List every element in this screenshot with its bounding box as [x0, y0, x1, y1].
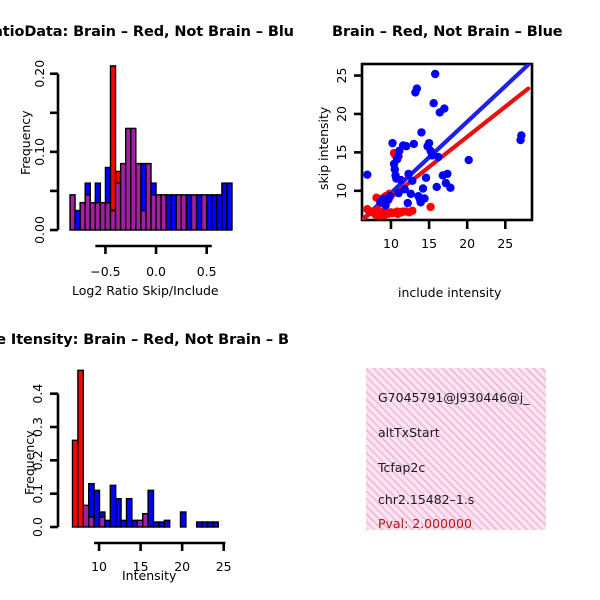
svg-text:20: 20 — [334, 106, 349, 122]
svg-text:15: 15 — [421, 236, 437, 251]
gene-info-box: G7045791@J930446@j_ altTxStart Tcfap2c c… — [366, 368, 546, 530]
svg-text:20: 20 — [174, 559, 190, 574]
svg-text:15: 15 — [133, 559, 149, 574]
intensity-histogram-plot: 0.00.10.20.30.410152025 — [0, 355, 300, 585]
svg-text:−0.5: −0.5 — [90, 264, 120, 279]
panel-ratio-histogram: RatioData: Brain – Red, Not Brain – Blu … — [0, 0, 300, 310]
ratio-histogram-title: RatioData: Brain – Red, Not Brain – Blu — [0, 24, 294, 40]
svg-text:10: 10 — [334, 183, 349, 199]
panel-intensity-scatter: Brain – Red, Not Brain – Blue skip inten… — [300, 0, 600, 310]
svg-text:0.0: 0.0 — [146, 264, 166, 279]
svg-text:20: 20 — [459, 236, 475, 251]
svg-text:25: 25 — [216, 559, 232, 574]
svg-text:0.1: 0.1 — [30, 484, 45, 504]
svg-text:10: 10 — [91, 559, 107, 574]
scatter-plot: 1015202510152025 — [300, 50, 600, 300]
svg-text:25: 25 — [497, 236, 513, 251]
svg-text:0.20: 0.20 — [32, 60, 47, 88]
svg-text:0.10: 0.10 — [32, 138, 47, 166]
svg-text:25: 25 — [334, 68, 349, 84]
svg-text:0.00: 0.00 — [32, 216, 47, 244]
intensity-histogram-title: ne Itensity: Brain – Red, Not Brain – B — [0, 332, 289, 348]
svg-text:0.4: 0.4 — [30, 384, 45, 404]
info-line-locus: chr2.15482–1.s — [378, 492, 474, 507]
svg-text:0.3: 0.3 — [30, 417, 45, 437]
svg-text:15: 15 — [334, 144, 349, 160]
info-line-gene: Tcfap2c — [378, 460, 425, 475]
ratio-histogram-plot: 0.000.100.20−0.50.00.5 — [0, 50, 300, 310]
svg-text:0.2: 0.2 — [30, 450, 45, 470]
info-line-pval: Pval: 2.000000 — [378, 516, 472, 530]
info-line-event: altTxStart — [378, 425, 440, 440]
panel-intensity-histogram: ne Itensity: Brain – Red, Not Brain – B … — [0, 310, 300, 600]
svg-text:10: 10 — [383, 236, 399, 251]
svg-text:0.5: 0.5 — [197, 264, 217, 279]
scatter-title: Brain – Red, Not Brain – Blue — [332, 24, 563, 40]
svg-text:0.0: 0.0 — [30, 517, 45, 537]
info-line-id: G7045791@J930446@j_ — [378, 390, 529, 405]
